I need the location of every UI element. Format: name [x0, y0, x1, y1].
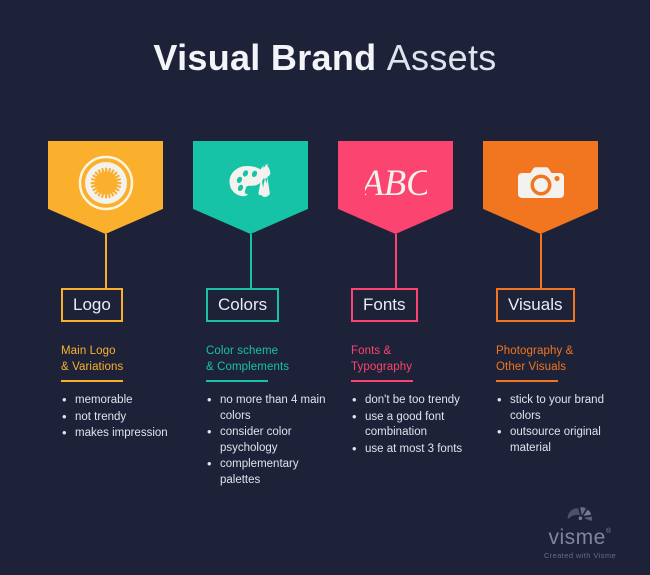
- abc-letters-icon: ABC: [365, 152, 427, 214]
- page-title-light: Assets: [387, 37, 497, 78]
- list-item: don't be too trendy: [351, 393, 476, 409]
- list-item: no more than 4 main colors: [206, 393, 331, 424]
- svg-text:ABC: ABC: [365, 163, 427, 203]
- visme-tagline: Created with Visme: [532, 551, 628, 561]
- text-block-logo: Main Logo & Variations memorable not tre…: [61, 344, 186, 443]
- list-item: outsource original material: [496, 425, 621, 456]
- visme-wordmark-text: visme: [548, 526, 605, 549]
- list-item: use a good font combination: [351, 410, 476, 441]
- column-logo: Logo Main Logo & Variations memorable no…: [48, 141, 163, 234]
- list-item: makes impression: [61, 426, 186, 442]
- subtitle-visuals: Photography & Other Visuals: [496, 344, 621, 375]
- subtitle-logo: Main Logo & Variations: [61, 344, 186, 375]
- list-item: memorable: [61, 393, 186, 409]
- banner-colors: [193, 141, 308, 234]
- banner-logo: [48, 141, 163, 234]
- subtitle-colors: Color scheme & Complements: [206, 344, 331, 375]
- column-fonts: ABC Fonts Fonts & Typography don't be to…: [338, 141, 453, 234]
- bullet-list-fonts: don't be too trendy use a good font comb…: [351, 393, 476, 457]
- column-colors: Colors Color scheme & Complements no mor…: [193, 141, 308, 234]
- list-item: complementary palettes: [206, 457, 331, 488]
- label-box-visuals[interactable]: Visuals: [496, 288, 575, 322]
- label-box-logo[interactable]: Logo: [61, 288, 123, 322]
- registered-mark: ®: [606, 528, 612, 535]
- column-visuals: Visuals Photography & Other Visuals stic…: [483, 141, 598, 234]
- visme-wordmark: visme®: [548, 524, 611, 549]
- page-title: Visual Brand Assets: [0, 36, 650, 80]
- rule-logo: [61, 380, 123, 382]
- rule-visuals: [496, 380, 558, 382]
- list-item: use at most 3 fonts: [351, 442, 476, 458]
- camera-icon: [510, 152, 572, 214]
- visme-burst-icon: [532, 502, 628, 524]
- banner-visuals: [483, 141, 598, 234]
- page-header: Visual Brand Assets: [0, 0, 650, 80]
- text-block-visuals: Photography & Other Visuals stick to you…: [496, 344, 621, 457]
- paint-palette-icon: [220, 152, 282, 214]
- rule-colors: [206, 380, 268, 382]
- rule-fonts: [351, 380, 413, 382]
- label-box-colors[interactable]: Colors: [206, 288, 279, 322]
- asset-columns: Logo Main Logo & Variations memorable no…: [0, 141, 650, 234]
- sun-logo-icon: [75, 152, 137, 214]
- page-title-bold: Visual Brand: [153, 37, 376, 78]
- text-block-colors: Color scheme & Complements no more than …: [206, 344, 331, 489]
- list-item: not trendy: [61, 410, 186, 426]
- list-item: consider color psychology: [206, 425, 331, 456]
- connector-line-logo: [105, 234, 107, 288]
- bullet-list-colors: no more than 4 main colors consider colo…: [206, 393, 331, 488]
- text-block-fonts: Fonts & Typography don't be too trendy u…: [351, 344, 476, 458]
- banner-fonts: ABC: [338, 141, 453, 234]
- label-box-fonts[interactable]: Fonts: [351, 288, 418, 322]
- list-item: stick to your brand colors: [496, 393, 621, 424]
- connector-line-colors: [250, 234, 252, 288]
- connector-line-fonts: [395, 234, 397, 288]
- bullet-list-visuals: stick to your brand colors outsource ori…: [496, 393, 621, 456]
- bullet-list-logo: memorable not trendy makes impression: [61, 393, 186, 442]
- visme-footer[interactable]: visme® Created with Visme: [532, 502, 628, 561]
- connector-line-visuals: [540, 234, 542, 288]
- subtitle-fonts: Fonts & Typography: [351, 344, 476, 375]
